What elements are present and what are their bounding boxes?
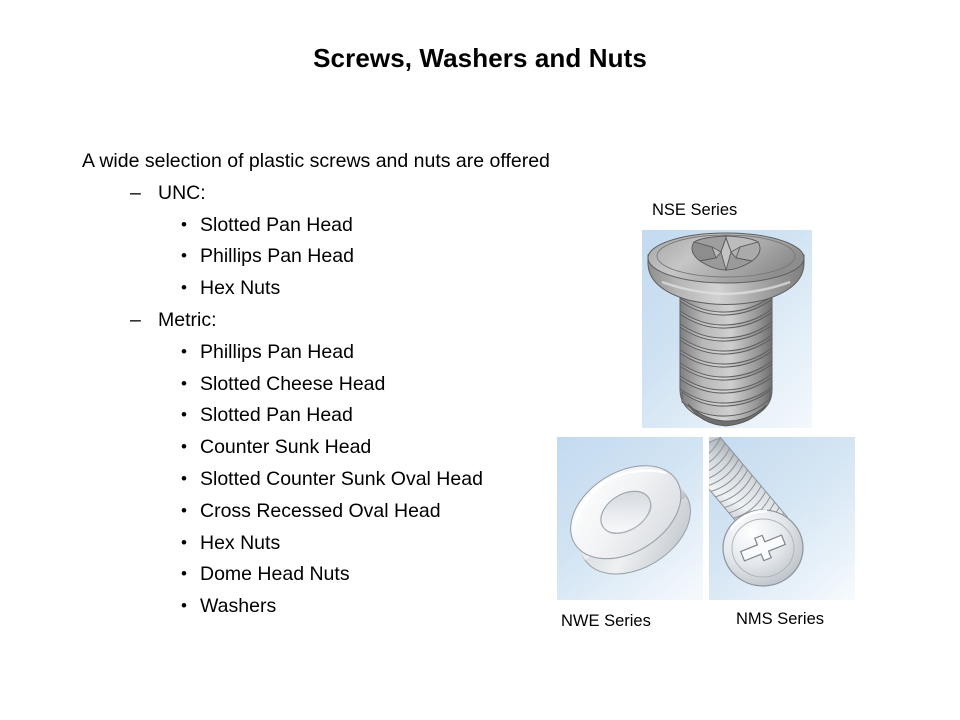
list-item-label: Hex Nuts: [200, 273, 280, 305]
bullet-marker: •: [181, 209, 200, 241]
bullet-marker: •: [181, 558, 200, 590]
bullet-marker: •: [181, 463, 200, 495]
list-item-label: Washers: [200, 591, 276, 623]
list-item-label: UNC:: [158, 178, 206, 210]
list-item-label: Slotted Pan Head: [200, 210, 353, 242]
list-item-label: Counter Sunk Head: [200, 432, 371, 464]
list-item-label: Slotted Counter Sunk Oval Head: [200, 464, 483, 496]
list-item-label: Phillips Pan Head: [200, 241, 354, 273]
list-item: • Slotted Counter Sunk Oval Head: [181, 464, 602, 496]
list-item-label: Phillips Pan Head: [200, 337, 354, 369]
list-item: • Dome Head Nuts: [181, 559, 602, 591]
page-title: Screws, Washers and Nuts: [0, 43, 960, 74]
list-item: • Slotted Cheese Head: [181, 369, 602, 401]
list-item: • Cross Recessed Oval Head: [181, 496, 602, 528]
flat-washer-icon: [557, 437, 703, 600]
list-item-label: A wide selection of plastic screws and n…: [82, 146, 550, 178]
list-item: • Slotted Pan Head: [181, 210, 602, 242]
list-item: • Hex Nuts: [181, 528, 602, 560]
dash-marker: –: [130, 305, 158, 337]
list-item-label: Cross Recessed Oval Head: [200, 496, 441, 528]
list-item-label: Metric:: [158, 305, 217, 337]
nse-series-image: [642, 230, 812, 428]
list-item-label: Slotted Pan Head: [200, 400, 353, 432]
list-item: • Washers: [181, 591, 602, 623]
nwe-series-caption: NWE Series: [561, 612, 651, 631]
nwe-series-image: [557, 437, 703, 600]
bullet-marker: •: [181, 272, 200, 304]
list-item: • Phillips Pan Head: [181, 241, 602, 273]
bullet-marker: •: [181, 590, 200, 622]
bullet-marker: •: [181, 527, 200, 559]
nms-series-caption: NMS Series: [736, 610, 824, 629]
list-item-label: Slotted Cheese Head: [200, 369, 385, 401]
bullet-list: A wide selection of plastic screws and n…: [82, 146, 602, 623]
bullet-marker: •: [181, 495, 200, 527]
bullet-marker: •: [181, 399, 200, 431]
list-item: • Slotted Pan Head: [181, 400, 602, 432]
bullet-marker: •: [181, 368, 200, 400]
nse-series-caption: NSE Series: [652, 201, 737, 220]
list-item: • Counter Sunk Head: [181, 432, 602, 464]
bullet-marker: •: [181, 431, 200, 463]
list-item-label: Hex Nuts: [200, 528, 280, 560]
phillips-pan-head-machine-screw-diagonal-icon: [709, 437, 855, 600]
list-item: – Metric:: [130, 305, 602, 337]
nms-series-image: [709, 437, 855, 600]
screw-thread-group: [680, 285, 772, 426]
list-item-label: Dome Head Nuts: [200, 559, 350, 591]
list-item: • Hex Nuts: [181, 273, 602, 305]
list-item: – UNC:: [130, 178, 602, 210]
bullet-marker: •: [181, 336, 200, 368]
list-item: • Phillips Pan Head: [181, 337, 602, 369]
dash-marker: –: [130, 178, 158, 210]
bullet-marker: •: [181, 240, 200, 272]
list-item: A wide selection of plastic screws and n…: [82, 146, 602, 178]
phillips-pan-head-screw-vertical-icon: [642, 230, 812, 428]
